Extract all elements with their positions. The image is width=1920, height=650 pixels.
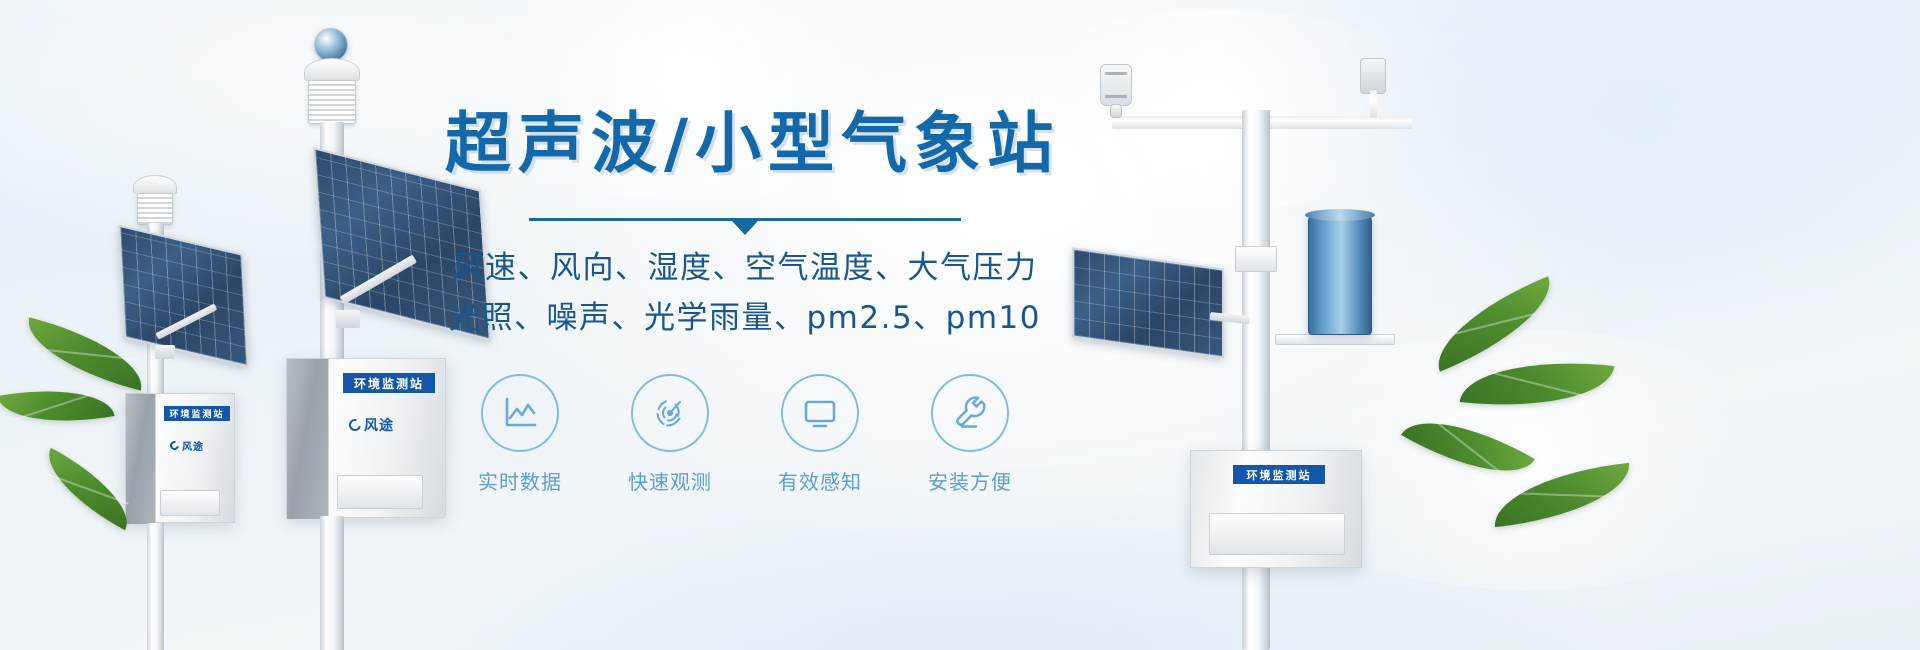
- sky-radiation-dome-icon: [314, 28, 348, 62]
- banner-subtitle: 风速、风向、湿度、空气温度、大气压力 光照、噪声、光学雨量、pm2.5、pm10: [445, 243, 1045, 343]
- cabinet-vent: [160, 490, 220, 516]
- monitor-icon: [781, 374, 859, 452]
- cabinet-tag: 环境监测站: [1233, 465, 1325, 484]
- brand-logo-icon: [347, 417, 363, 433]
- feature-item-easy-installation[interactable]: 安装方便: [916, 374, 1024, 495]
- feature-list: 实时数据 快速观测: [445, 374, 1045, 495]
- brand-text: 风途: [364, 415, 394, 435]
- radiation-shield: [137, 193, 173, 225]
- brand-logo-icon: [168, 439, 180, 451]
- feature-label: 有效感知: [766, 466, 874, 495]
- ultrasonic-wind-sensor: [1100, 64, 1132, 106]
- cabinet-tag: 环境监测站: [164, 406, 230, 421]
- leaf-decoration: [1490, 463, 1634, 527]
- cabinet-vent: [1209, 513, 1345, 555]
- line-chart-icon: [481, 374, 559, 452]
- cabinet-brand: 风途: [349, 415, 394, 435]
- rain-gauge: [1308, 215, 1372, 335]
- subtitle-line-2: 光照、噪声、光学雨量、pm2.5、pm10: [445, 293, 1045, 343]
- wrench-icon: [931, 374, 1009, 452]
- leaf-decoration: [1422, 276, 1566, 371]
- control-cabinet: 环境监测站: [1190, 450, 1362, 568]
- main-mast: [1242, 110, 1270, 650]
- feature-label: 快速观测: [616, 466, 724, 495]
- control-cabinet: 环境监测站 风途: [286, 358, 446, 518]
- subtitle-line-1: 风速、风向、湿度、空气温度、大气压力: [445, 243, 1045, 293]
- base-pole: [320, 516, 344, 650]
- divider-triangle-icon: [732, 221, 758, 235]
- cabinet-tag: 环境监测站: [343, 373, 435, 393]
- base-pole: [147, 523, 164, 650]
- feature-label: 实时数据: [466, 466, 574, 495]
- wind-vane-sensor: [1360, 58, 1386, 94]
- radiation-shield: [308, 80, 356, 124]
- banner-content: 超声波/小型气象站 风速、风向、湿度、空气温度、大气压力 光照、噪声、光学雨量、…: [445, 108, 1045, 495]
- sensor-mount: [1110, 104, 1122, 118]
- feature-item-fast-observation[interactable]: 快速观测: [616, 374, 724, 495]
- vane-mast: [1370, 90, 1377, 118]
- equipment-shelf: [1275, 334, 1395, 345]
- feature-item-effective-sensing[interactable]: 有效感知: [766, 374, 874, 495]
- headline-divider: [529, 215, 961, 229]
- panel-brace: [336, 310, 360, 328]
- solar-panel: [118, 225, 249, 368]
- cabinet-brand: 风途: [170, 438, 204, 453]
- control-cabinet: 环境监测站 风途: [125, 393, 235, 523]
- cabinet-vent: [337, 475, 423, 509]
- feature-item-realtime-data[interactable]: 实时数据: [466, 374, 574, 495]
- panel-brace: [155, 345, 175, 359]
- cabinet-door: [287, 359, 329, 519]
- solar-panel: [1072, 247, 1224, 358]
- wind-sensor-cap-icon: [133, 175, 177, 195]
- radar-scan-icon: [631, 374, 709, 452]
- mast-collar: [1235, 246, 1277, 272]
- station-right-tall: 环境监测站: [1060, 50, 1430, 650]
- wind-sensor-cap-icon: [304, 58, 360, 82]
- feature-label: 安装方便: [916, 466, 1024, 495]
- banner-headline: 超声波/小型气象站: [445, 108, 1045, 179]
- weather-station-banner: 环境监测站 风途 环境监测站 风途: [0, 0, 1920, 650]
- leaf-decoration: [1460, 350, 1615, 417]
- brand-text: 风途: [182, 438, 204, 453]
- cabinet-door: [126, 394, 156, 524]
